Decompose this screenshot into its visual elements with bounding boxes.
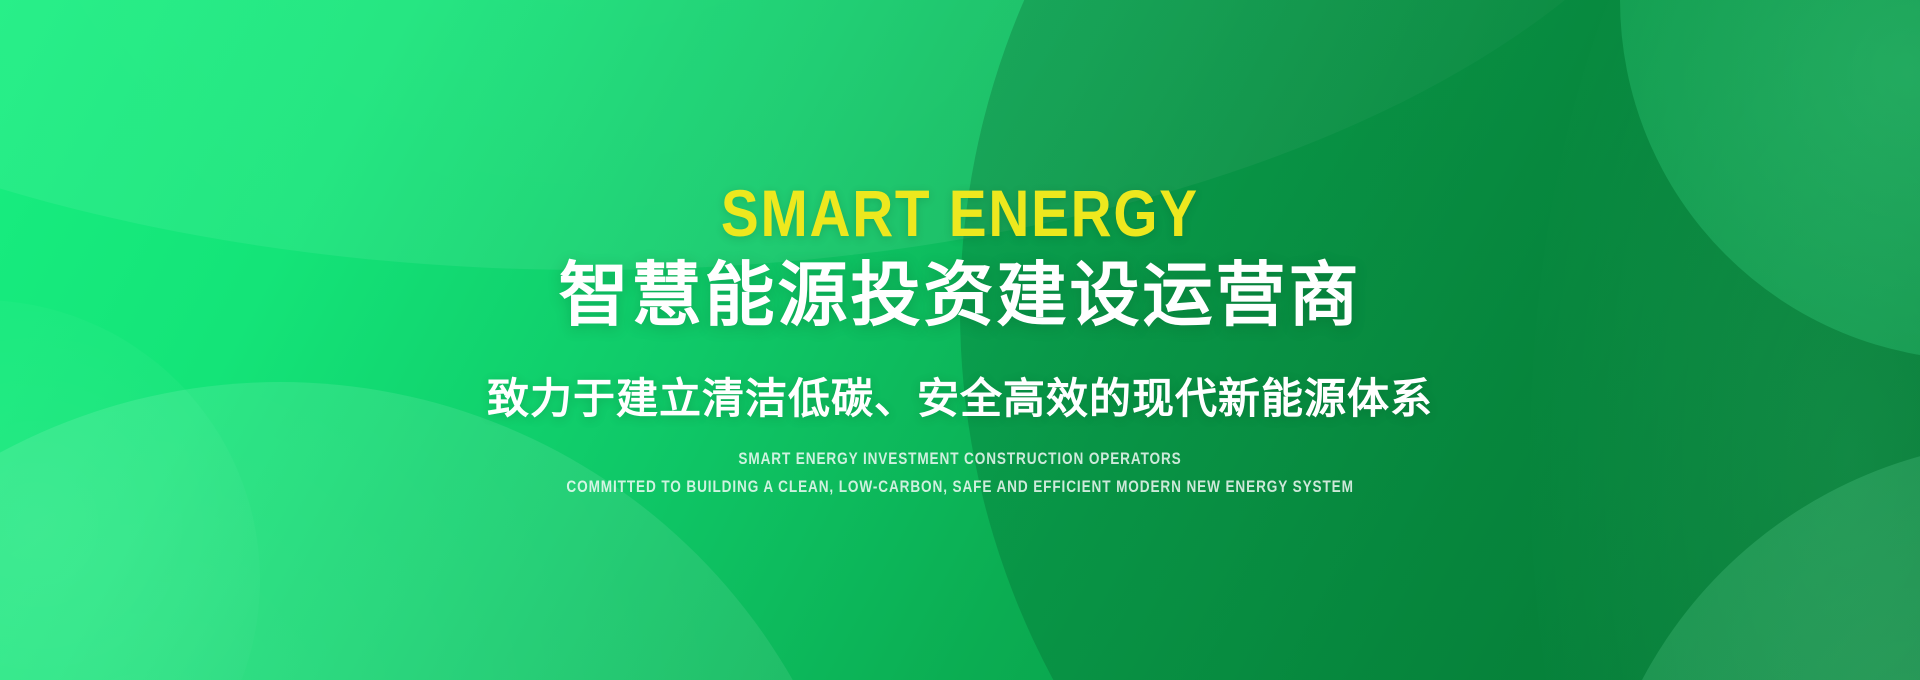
banner-caption-line-1: SMART ENERGY INVESTMENT CONSTRUCTION OPE… [738, 446, 1181, 472]
banner-headline-chinese: 智慧能源投资建设运营商 [559, 258, 1362, 332]
hero-banner: SMART ENERGY 智慧能源投资建设运营商 致力于建立清洁低碳、安全高效的… [0, 0, 1920, 680]
banner-headline-english: SMART ENERGY [721, 180, 1199, 246]
banner-subtitle-chinese: 致力于建立清洁低碳、安全高效的现代新能源体系 [487, 374, 1433, 424]
banner-content: SMART ENERGY 智慧能源投资建设运营商 致力于建立清洁低碳、安全高效的… [0, 0, 1920, 680]
banner-caption-line-2: COMMITTED TO BUILDING A CLEAN, LOW-CARBO… [566, 474, 1353, 500]
